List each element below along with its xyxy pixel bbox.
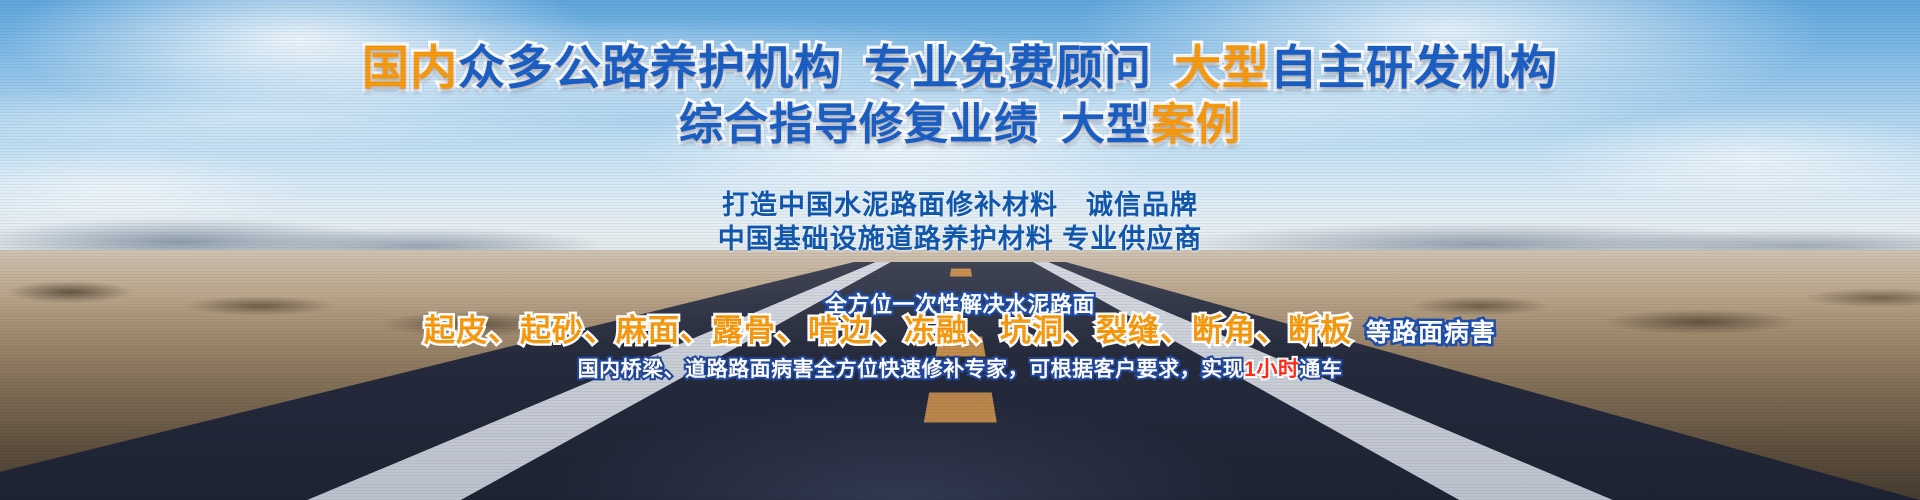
banner-content: 国内众多公路养护机构专业免费顾问大型自主研发机构 综合指导修复业绩大型案例 打造…: [0, 0, 1920, 500]
promo-banner: 国内众多公路养护机构专业免费顾问大型自主研发机构 综合指导修复业绩大型案例 打造…: [0, 0, 1920, 500]
headline1-seg-rnd: 自主研发机构: [1270, 41, 1558, 94]
closing-part-1: 国内桥梁、道路路面病害全方位快速修补专家，可根据客户要求，实现: [578, 358, 1245, 381]
disease-list-main: 起皮、起砂、麻面、露骨、啃边、冻融、坑洞、裂缝、断角、断板: [424, 313, 1352, 348]
headline2-seg-guidance: 综合指导修复业绩: [679, 100, 1039, 149]
headline2-seg-large: 大型: [1061, 100, 1151, 149]
headline1-seg-free-consult: 免费顾问: [960, 41, 1152, 94]
closing-highlight-one-hour: 1小时: [1244, 358, 1299, 381]
closing-part-2: 通车: [1299, 358, 1342, 381]
headline-line-1: 国内众多公路养护机构专业免费顾问大型自主研发机构: [0, 44, 1920, 91]
headline-line-2: 综合指导修复业绩大型案例: [0, 103, 1920, 147]
headline1-seg-domestic: 国内: [362, 41, 458, 94]
disease-list-line: 起皮、起砂、麻面、露骨、啃边、冻融、坑洞、裂缝、断角、断板等路面病害: [0, 315, 1920, 346]
mid-tagline-1: 打造中国水泥路面修补材料 诚信品牌: [0, 192, 1920, 219]
mid-tagline-2: 中国基础设施道路养护材料 专业供应商: [0, 226, 1920, 253]
closing-line: 国内桥梁、道路路面病害全方位快速修补专家，可根据客户要求，实现1小时通车: [0, 359, 1920, 380]
headline2-seg-cases: 案例: [1151, 100, 1241, 149]
headline1-seg-agencies: 众多公路养护机构: [458, 41, 842, 94]
headline1-seg-large-scale: 大型: [1174, 41, 1270, 94]
headline1-seg-professional: 专业: [864, 41, 960, 94]
disease-list-tail: 等路面病害: [1366, 319, 1496, 347]
